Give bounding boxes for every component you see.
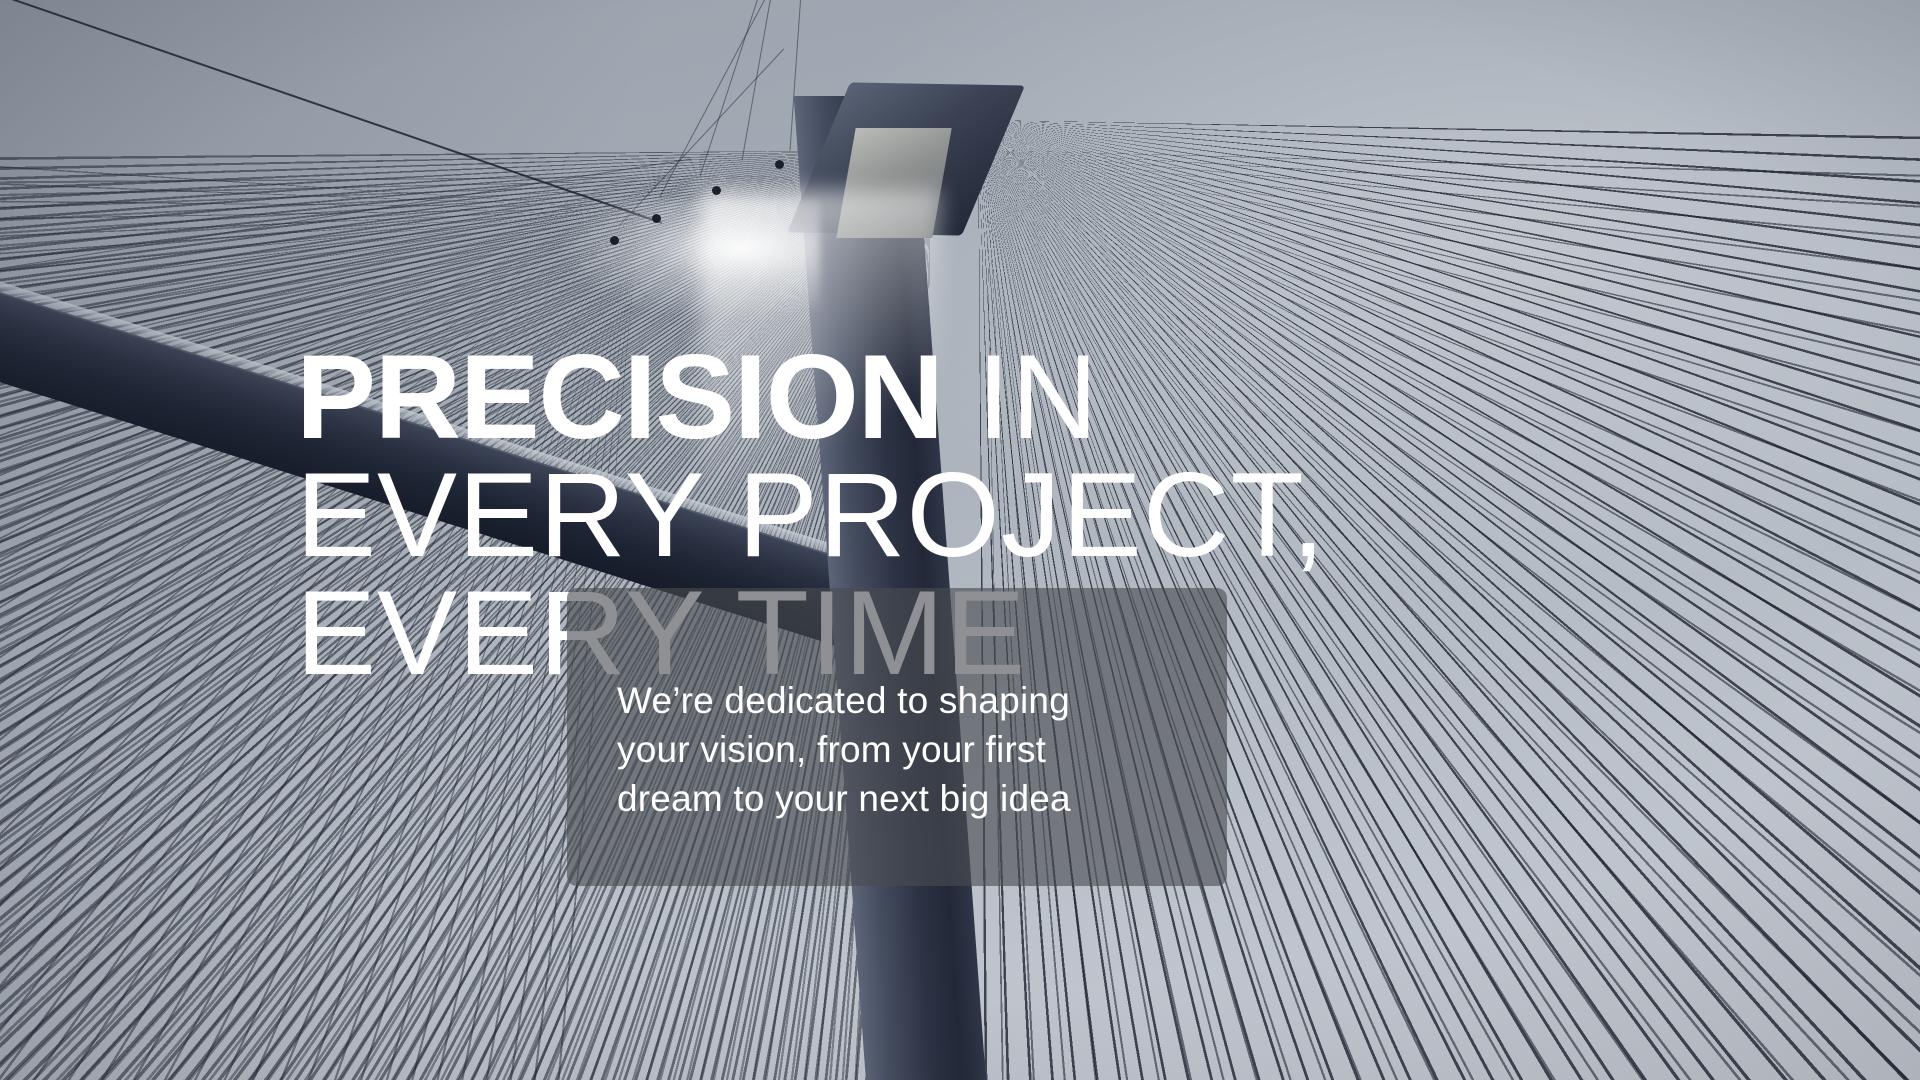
hero-subtitle: We’re dedicated to shaping your vision, … (617, 676, 1187, 823)
headline-line-2: EVERY PROJECT, (296, 456, 1596, 574)
headline-line-1-tail: IN (943, 330, 1099, 464)
subtitle-panel: We’re dedicated to shaping your vision, … (567, 588, 1227, 886)
hero-banner: PRECISION IN EVERY PROJECT, EVERY TIME W… (0, 0, 1920, 1080)
subtitle-line-2: your vision, from your first (617, 729, 1046, 770)
headline-line-1-tail-text: IN (977, 330, 1099, 464)
hero-content: PRECISION IN EVERY PROJECT, EVERY TIME W… (0, 0, 1920, 1080)
headline-line-1: PRECISION IN (296, 338, 1596, 456)
subtitle-line-3: dream to your next big idea (617, 778, 1071, 819)
headline-emphasis: PRECISION (296, 330, 943, 464)
subtitle-line-1: We’re dedicated to shaping (617, 680, 1070, 721)
